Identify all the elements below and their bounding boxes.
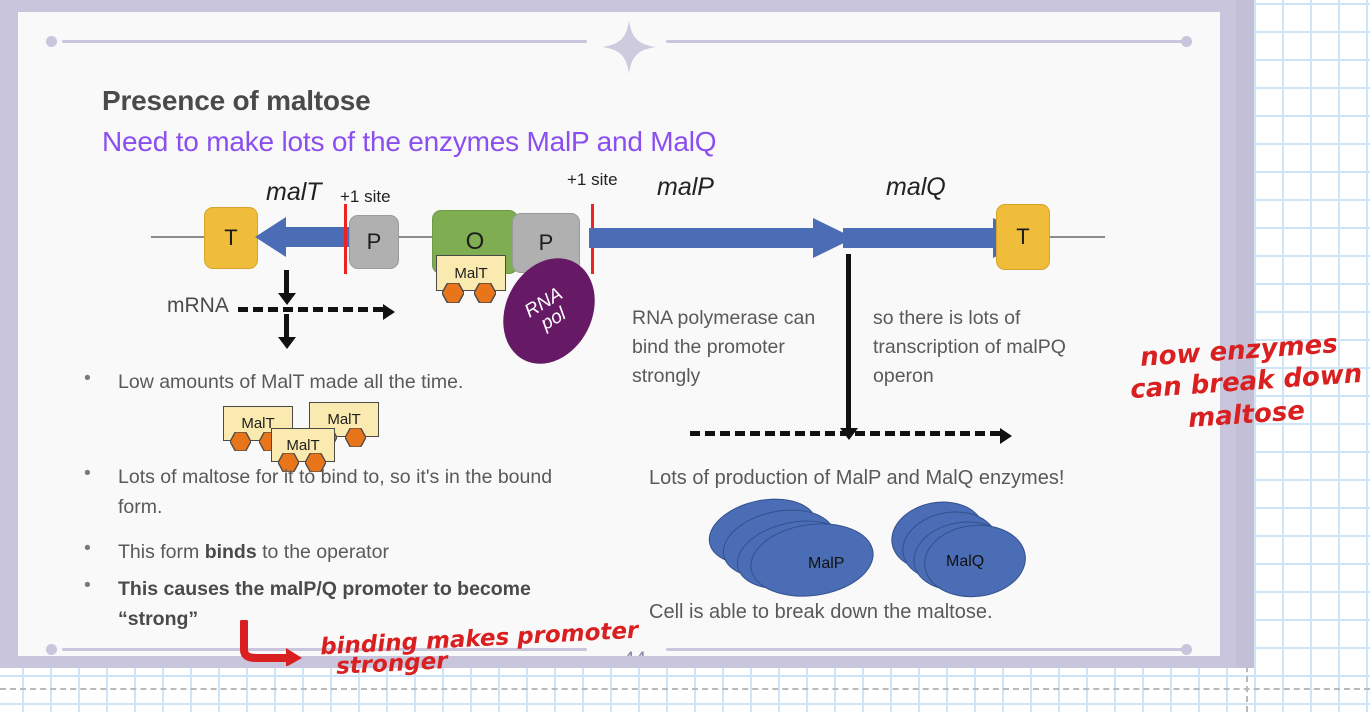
- page-subtitle: Need to make lots of the enzymes MalP an…: [102, 126, 716, 158]
- bullet-3-bold-word: binds: [205, 541, 257, 563]
- paper-margin-dashed-horizontal: [0, 688, 1370, 690]
- note-transcription: so there is lots of transcription of mal…: [873, 304, 1073, 391]
- page-title: Presence of maltose: [102, 85, 371, 117]
- bullet-text-3: This form binds to the operator: [118, 537, 588, 567]
- mrna-label: mRNA: [167, 294, 229, 318]
- bullet-marker: •: [84, 537, 91, 560]
- plus1-label-left: +1 site: [340, 187, 391, 207]
- bullet-text-2: Lots of maltose for it to bind to, so it…: [118, 462, 568, 522]
- terminator-box-right: T: [996, 204, 1050, 270]
- bullet-3-suffix: to the operator: [257, 541, 389, 563]
- malQ-label: MalQ: [946, 553, 984, 571]
- note-rna-polymerase: RNA polymerase can bind the promoter str…: [632, 304, 832, 391]
- screenshot-root: Presence of maltose Need to make lots of…: [0, 0, 1370, 712]
- cell-breakdown-text: Cell is able to break down the maltose.: [649, 598, 993, 627]
- mrna-dashed-arrow: [238, 307, 383, 312]
- gene-label-malQ: malQ: [886, 173, 946, 202]
- maltose-hexagon-icon: [474, 283, 496, 303]
- dna-backbone-far-right: [1050, 236, 1105, 238]
- bullet-marker: •: [84, 574, 91, 597]
- footer-rule-dot-left: [46, 644, 57, 655]
- maltose-hexagon-icon: [230, 432, 251, 451]
- bullet-marker: •: [84, 462, 91, 485]
- maltose-hexagon-icon: [345, 428, 366, 447]
- terminator-box-left: T: [204, 207, 258, 269]
- four-point-star-icon: [600, 18, 658, 76]
- transcription-dashed-arrow: [690, 431, 1000, 436]
- slide-backing-edge: [1236, 0, 1254, 668]
- gene-label-malT: malT: [266, 178, 322, 207]
- bullet-marker: •: [84, 367, 91, 390]
- maltose-hexagon-icon: [442, 283, 464, 303]
- transcription-down-arrow: [846, 254, 851, 429]
- mrna-arrow-down-lower: [284, 314, 289, 338]
- dna-backbone-far-left: [151, 236, 211, 238]
- header-rule-dot-left: [46, 36, 57, 47]
- header-rule-dot-right: [1181, 36, 1192, 47]
- production-text: Lots of production of MalP and MalQ enzy…: [649, 464, 1064, 493]
- bullet-text-1: Low amounts of MalT made all the time.: [118, 367, 588, 397]
- header-rule-right: [666, 40, 1191, 43]
- plus1-tick-left: [344, 204, 347, 274]
- malT-transcription-arrow: [254, 216, 358, 258]
- page-number: 44: [623, 648, 646, 656]
- gene-label-malP: malP: [657, 173, 714, 202]
- promoter-box-left: P: [349, 215, 399, 269]
- annotation-hook-arrow-icon: [236, 620, 306, 666]
- bullet-text-4: This causes the malP/Q promoter to becom…: [118, 574, 538, 634]
- malP-label: MalP: [808, 555, 844, 573]
- slide-canvas: Presence of maltose Need to make lots of…: [18, 12, 1220, 656]
- footer-rule-dot-right: [1181, 644, 1192, 655]
- plus1-label-right: +1 site: [567, 170, 618, 190]
- bullet-3-prefix: This form: [118, 541, 205, 563]
- mrna-arrow-down-upper: [284, 270, 289, 294]
- footer-rule-right: [666, 648, 1191, 651]
- header-rule-left: [62, 40, 587, 43]
- malP-transcription-arrow: [589, 218, 854, 258]
